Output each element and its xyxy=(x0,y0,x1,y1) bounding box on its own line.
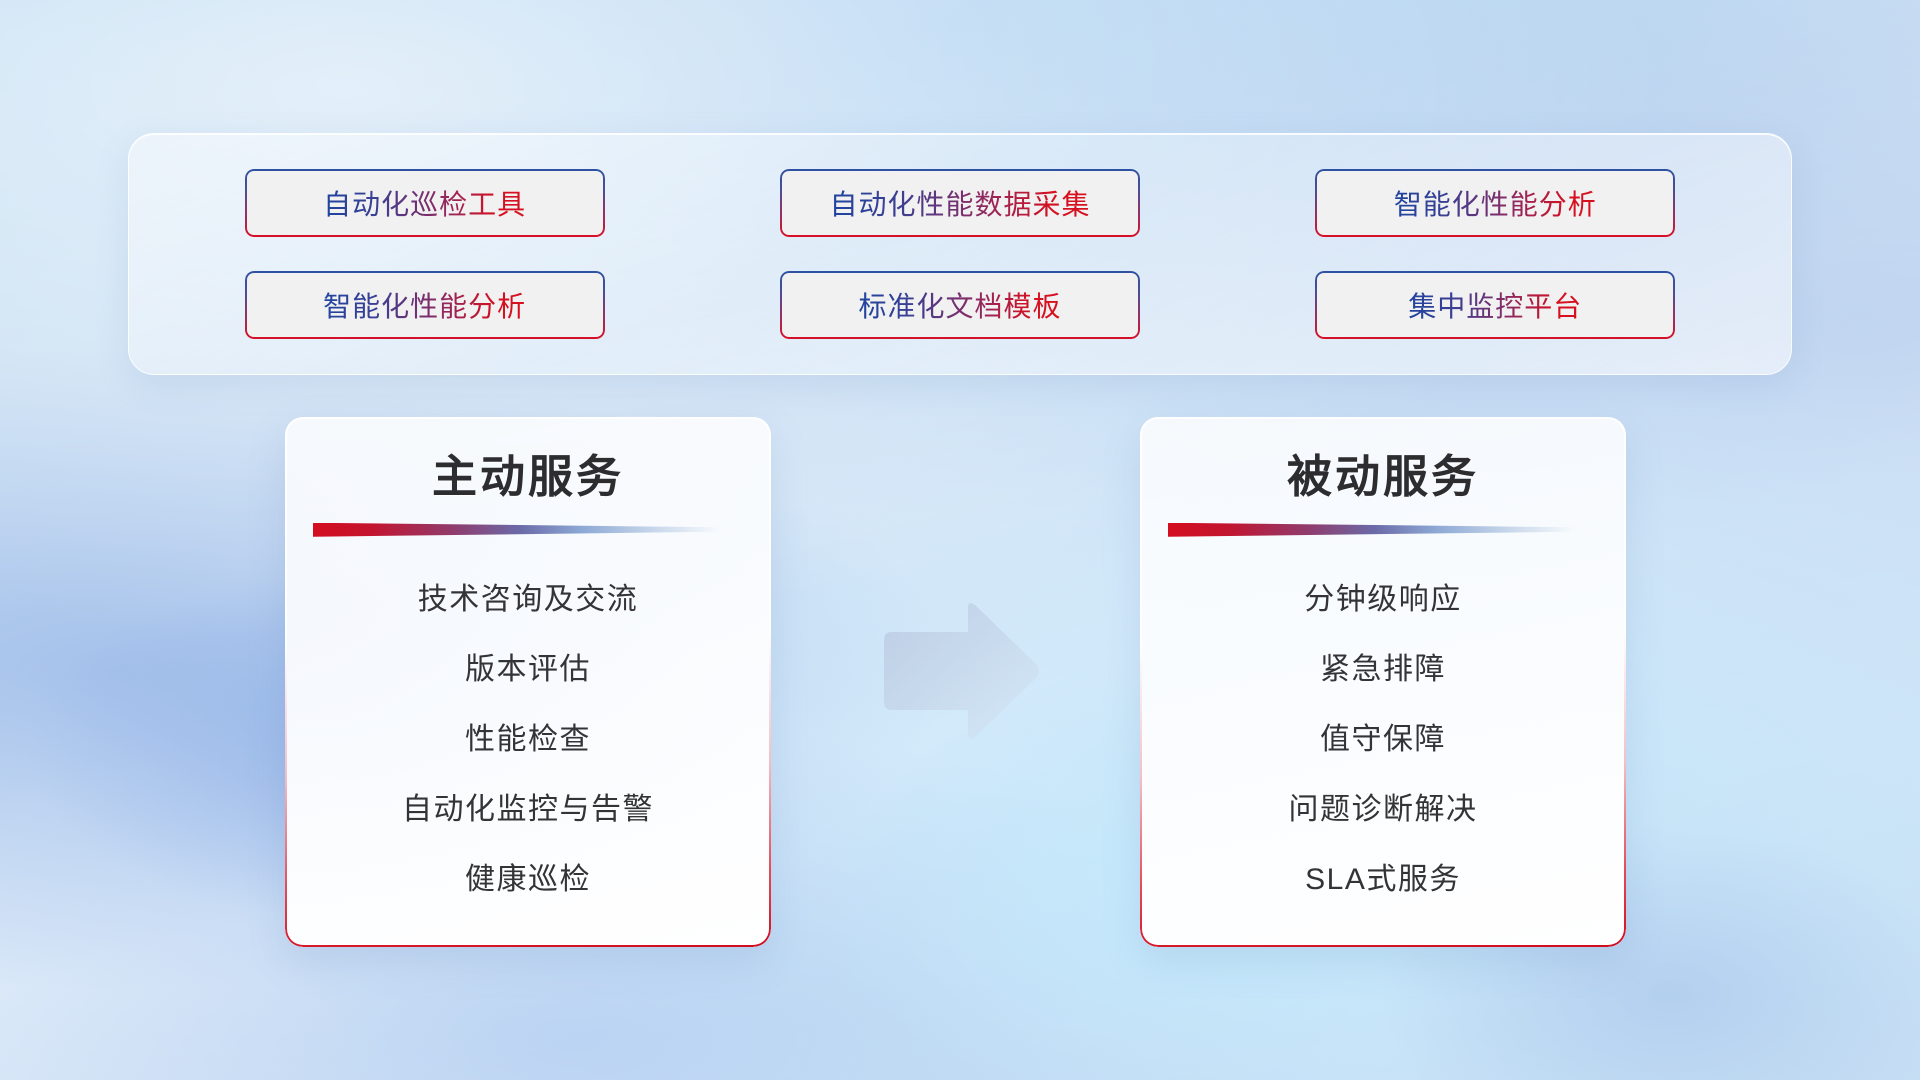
list-item: 版本评估 xyxy=(465,635,591,705)
capability-tag-label: 智能化性能分析 xyxy=(1394,183,1597,223)
service-card-passive-title: 被动服务 xyxy=(1287,451,1479,503)
service-card-active-title: 主动服务 xyxy=(432,451,624,503)
capability-tag[interactable]: 智能化性能分析 xyxy=(1315,169,1675,237)
capability-tag-label: 智能化性能分析 xyxy=(323,285,526,325)
capability-tag[interactable]: 自动化性能数据采集 xyxy=(780,169,1140,237)
list-item: 问题诊断解决 xyxy=(1289,775,1478,845)
list-item: 自动化监控与告警 xyxy=(402,775,654,845)
capability-tag-label: 标准化文档模板 xyxy=(858,285,1061,325)
list-item: SLA式服务 xyxy=(1305,845,1461,915)
capability-tag[interactable]: 智能化性能分析 xyxy=(245,271,605,339)
list-item: 技术咨询及交流 xyxy=(418,565,639,635)
list-item: 分钟级响应 xyxy=(1304,565,1462,635)
service-card-passive-list: 分钟级响应 紧急排障 值守保障 问题诊断解决 SLA式服务 xyxy=(1170,565,1596,917)
service-card-active-list: 技术咨询及交流 版本评估 性能检查 自动化监控与告警 健康巡检 xyxy=(315,565,741,917)
service-card-active: 主动服务 技术咨询及交流 版本评估 性能检查 自动化监控与告警 健康巡检 xyxy=(285,417,771,947)
service-card-passive: 被动服务 分钟级响应 紧急排障 值守保障 问题诊断解决 SLA式服务 xyxy=(1140,417,1626,947)
service-card-passive-inner: 被动服务 分钟级响应 紧急排障 值守保障 问题诊断解决 SLA式服务 xyxy=(1140,417,1626,947)
capability-tag[interactable]: 集中监控平台 xyxy=(1315,271,1675,339)
list-item: 值守保障 xyxy=(1320,705,1446,775)
service-card-active-inner: 主动服务 技术咨询及交流 版本评估 性能检查 自动化监控与告警 健康巡检 xyxy=(285,417,771,947)
capability-tag[interactable]: 自动化巡检工具 xyxy=(245,169,605,237)
list-item: 健康巡检 xyxy=(465,845,591,915)
capability-tag-label: 自动化性能数据采集 xyxy=(829,183,1090,223)
capability-tag-panel: 自动化巡检工具 自动化性能数据采集 智能化性能分析 智能化性能分析 标准化文档模… xyxy=(128,133,1792,375)
flow-arrow-right-icon xyxy=(876,600,1042,742)
list-item: 紧急排障 xyxy=(1320,635,1446,705)
capability-tag[interactable]: 标准化文档模板 xyxy=(780,271,1140,339)
service-card-passive-divider xyxy=(1168,523,1598,537)
service-card-active-divider xyxy=(313,523,743,537)
capability-tag-label: 集中监控平台 xyxy=(1408,285,1582,325)
list-item: 性能检查 xyxy=(465,705,591,775)
capability-tag-label: 自动化巡检工具 xyxy=(323,183,526,223)
